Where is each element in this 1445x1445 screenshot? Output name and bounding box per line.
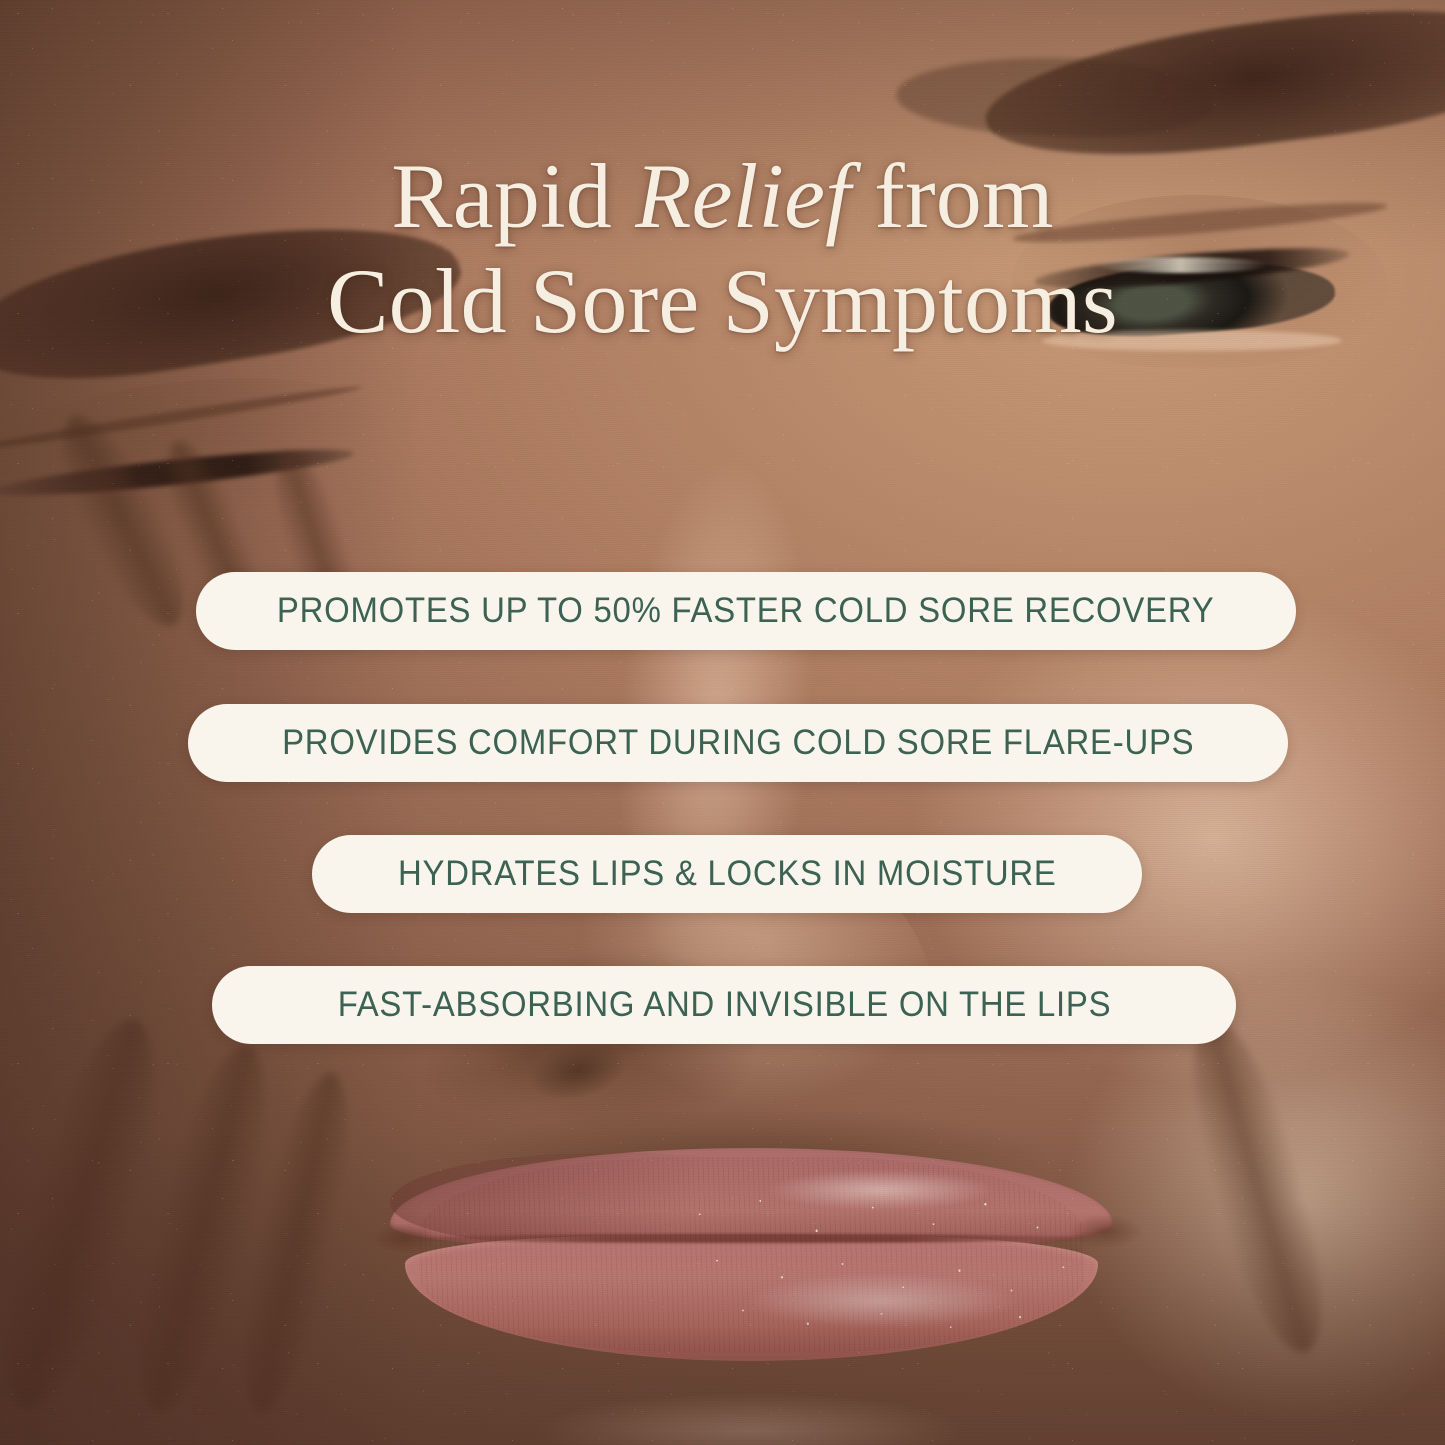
benefit-pill-label: PROVIDES COMFORT DURING COLD SORE FLARE-… — [282, 723, 1194, 763]
benefit-pill-list: PROMOTES UP TO 50% FASTER COLD SORE RECO… — [0, 0, 1445, 1445]
benefit-pill[interactable]: PROVIDES COMFORT DURING COLD SORE FLARE-… — [188, 704, 1288, 782]
benefit-pill-label: HYDRATES LIPS & LOCKS IN MOISTURE — [398, 854, 1057, 894]
benefit-pill[interactable]: FAST-ABSORBING AND INVISIBLE ON THE LIPS — [212, 966, 1236, 1044]
benefit-pill-label: FAST-ABSORBING AND INVISIBLE ON THE LIPS — [337, 985, 1111, 1025]
benefit-pill[interactable]: HYDRATES LIPS & LOCKS IN MOISTURE — [312, 835, 1142, 913]
benefit-pill-label: PROMOTES UP TO 50% FASTER COLD SORE RECO… — [277, 591, 1214, 631]
product-benefit-banner: Rapid Relief from Cold Sore Symptoms PRO… — [0, 0, 1445, 1445]
benefit-pill[interactable]: PROMOTES UP TO 50% FASTER COLD SORE RECO… — [196, 572, 1296, 650]
